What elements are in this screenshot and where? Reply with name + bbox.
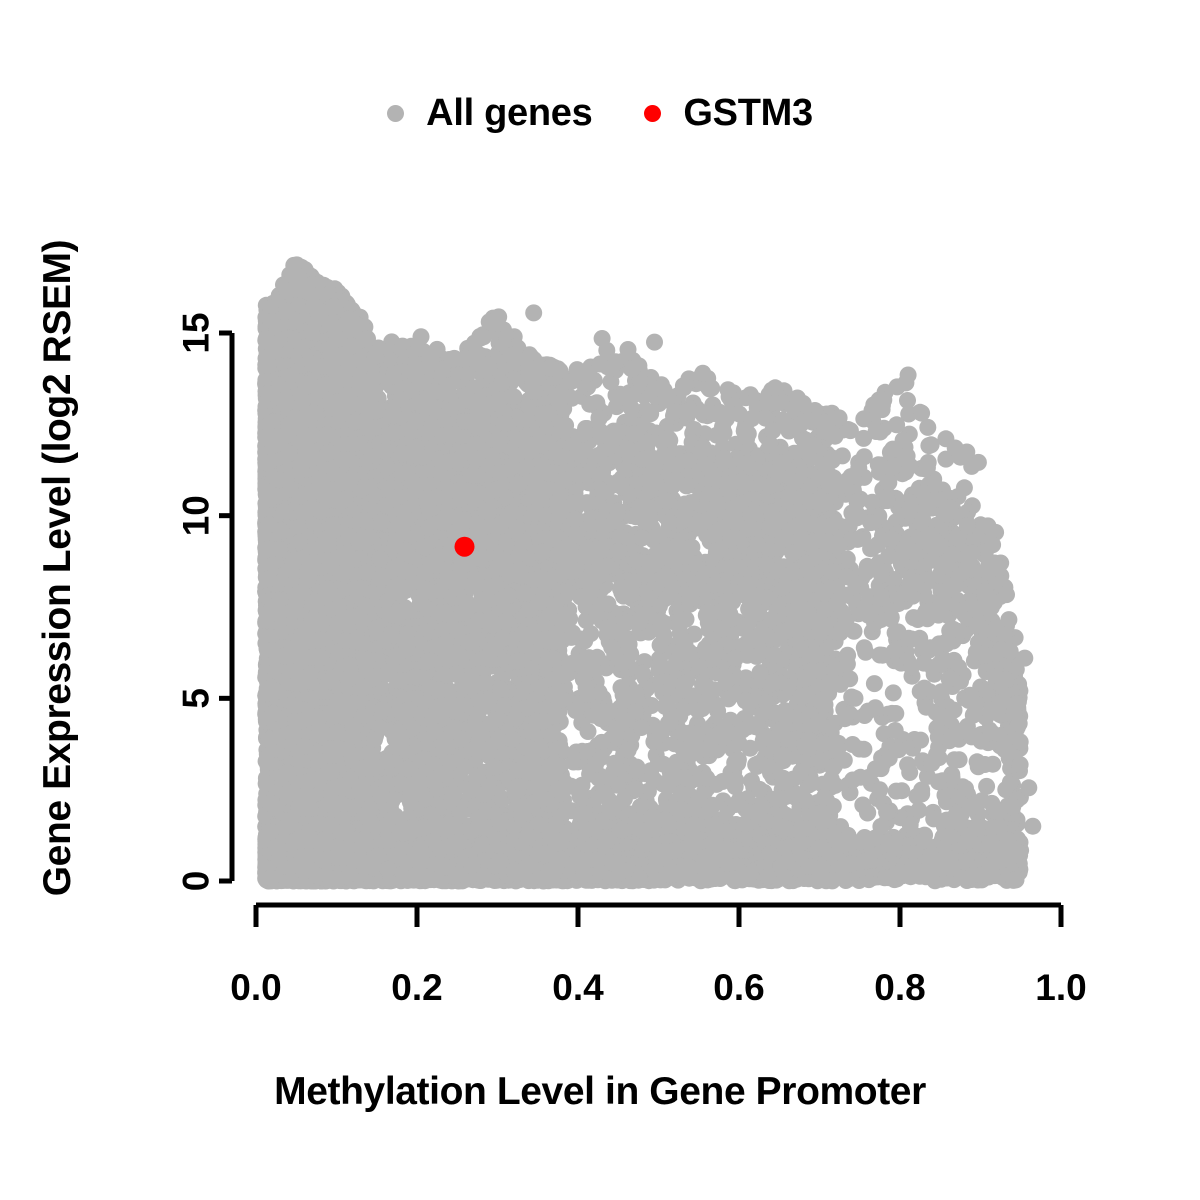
data-points-layer: [257, 256, 1041, 889]
plot-canvas: 0510150.00.20.40.60.81.0: [0, 0, 1200, 1200]
scatter-plot-figure: All genes GSTM3 0510150.00.20.40.60.81.0…: [0, 0, 1200, 1200]
data-point-all-genes: [866, 675, 883, 692]
